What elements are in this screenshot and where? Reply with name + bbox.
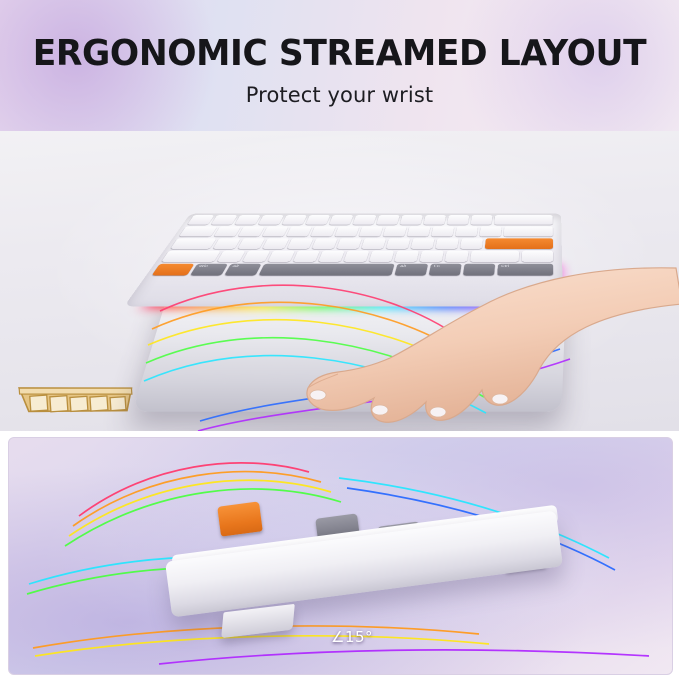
keycap xyxy=(336,238,362,249)
win-keycap: Win xyxy=(190,264,228,276)
top-product-photo: Win Alt Alt Fn Ctrl xyxy=(0,131,679,431)
keycap xyxy=(394,251,419,262)
keycap xyxy=(286,226,312,236)
keycap xyxy=(217,251,246,262)
keycap xyxy=(460,238,483,249)
ctrl-left-keycap xyxy=(152,264,195,276)
keycap xyxy=(504,226,553,236)
keycap xyxy=(334,226,359,236)
keycap xyxy=(282,215,307,225)
keycap xyxy=(470,251,519,262)
keycap xyxy=(161,251,220,262)
angle-label: ∠15° xyxy=(331,628,373,646)
keycap xyxy=(400,215,423,225)
keycap xyxy=(287,238,313,249)
keycap-puller-icon xyxy=(12,370,141,427)
keycap xyxy=(213,238,241,249)
keycap xyxy=(359,226,384,236)
keycap xyxy=(471,215,493,225)
keycap xyxy=(262,226,288,236)
keycap xyxy=(431,226,454,236)
page-title: ERGONOMIC STREAMED LAYOUT xyxy=(10,0,669,74)
keycap xyxy=(238,238,265,249)
keycap xyxy=(383,226,407,236)
keycap xyxy=(262,238,289,249)
keycap xyxy=(361,238,386,249)
keycap xyxy=(170,238,216,249)
keycap xyxy=(179,226,217,236)
keycap xyxy=(293,251,320,262)
keycap xyxy=(522,251,553,262)
header-band: ERGONOMIC STREAMED LAYOUT Protect your w… xyxy=(0,0,679,131)
keycap xyxy=(258,215,284,225)
keycap xyxy=(211,215,238,225)
keycap xyxy=(411,238,435,249)
keycap xyxy=(329,215,354,225)
keycap xyxy=(386,238,411,249)
keycap xyxy=(419,251,443,262)
keycap xyxy=(234,215,260,225)
enter-keycap xyxy=(485,238,553,249)
key-legend: Win xyxy=(198,265,209,268)
keycap xyxy=(455,226,478,236)
keycap xyxy=(305,215,330,225)
header-text-block: ERGONOMIC STREAMED LAYOUT Protect your w… xyxy=(0,0,679,107)
keycap xyxy=(423,215,446,225)
keycap xyxy=(494,215,553,225)
keycap xyxy=(268,251,295,262)
keycap xyxy=(445,251,469,262)
keycap xyxy=(318,251,344,262)
keycap xyxy=(435,238,459,249)
keycap xyxy=(369,251,394,262)
product-infographic: ERGONOMIC STREAMED LAYOUT Protect your w… xyxy=(0,0,679,679)
keycap xyxy=(376,215,400,225)
keycap xyxy=(479,226,501,236)
keyboard-side-view xyxy=(167,500,567,630)
bottom-product-photo: ∠15° xyxy=(8,437,673,675)
key-legend: Alt xyxy=(231,265,239,268)
side-accent-keycap xyxy=(217,501,263,536)
keycap xyxy=(407,226,431,236)
keycap xyxy=(238,226,265,236)
keycap xyxy=(312,238,338,249)
keycap xyxy=(214,226,241,236)
keycap xyxy=(352,215,376,225)
alt-keycap: Alt xyxy=(224,264,261,276)
keycap xyxy=(242,251,270,262)
hand-illustration xyxy=(268,262,679,431)
keycap xyxy=(310,226,335,236)
page-subtitle: Protect your wrist xyxy=(0,74,679,107)
keycap xyxy=(343,251,369,262)
keycap xyxy=(447,215,469,225)
